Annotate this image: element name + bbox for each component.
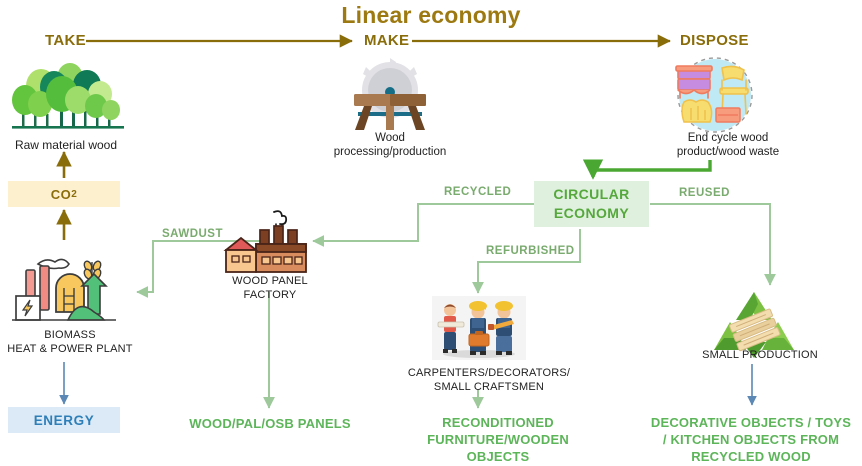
biomass-caption: BIOMASS HEAT & POWER PLANT [0, 328, 140, 356]
raw-material-caption: Raw material wood [0, 138, 132, 152]
wood-waste-furniture-icon [660, 56, 770, 134]
outcome-decorative-line1: DECORATIVE OBJECTS / TOYS [640, 414, 862, 431]
small-production-caption: SMALL PRODUCTION [660, 348, 860, 362]
edge-recycled-to-factory [313, 204, 534, 241]
factory-caption: WOOD PANEL FACTORY [200, 274, 340, 302]
circular-economy-label-line1: CIRCULAR [553, 185, 629, 204]
stage-label-dispose: DISPOSE [680, 32, 749, 49]
outcome-furniture-line1: RECONDITIONED [388, 414, 608, 431]
end-cycle-caption-line1: End cycle wood [630, 131, 826, 145]
end-cycle-caption-line2: product/wood waste [630, 145, 826, 159]
stage-label-make: MAKE [364, 32, 409, 49]
outcome-decorative-objects: DECORATIVE OBJECTS / TOYS / KITCHEN OBJE… [640, 414, 862, 465]
biomass-caption-line1: BIOMASS [0, 328, 140, 342]
outcome-furniture-line3: OBJECTS [388, 448, 608, 465]
edge-label-refurbished: REFURBISHED [486, 245, 575, 257]
edge-reused-to-small-production [650, 204, 770, 285]
wood-processing-caption: Wood processing/production [300, 131, 480, 159]
circular-economy-box[interactable]: CIRCULAR ECONOMY [534, 181, 649, 227]
sawhorse-saw-icon [330, 58, 450, 132]
outcome-decorative-line3: RECYCLED WOOD [640, 448, 862, 465]
circular-economy-label-line2: ECONOMY [554, 204, 629, 223]
edge-refurbished-to-craftsmen [478, 229, 580, 293]
co2-box: CO2 [8, 181, 120, 207]
wood-processing-caption-line2: processing/production [300, 145, 480, 159]
energy-box: ENERGY [8, 407, 120, 433]
biomass-caption-line2: HEAT & POWER PLANT [0, 342, 140, 356]
wood-processing-caption-line1: Wood [300, 131, 480, 145]
craftsmen-workers-icon [432, 296, 526, 360]
outcome-reconditioned-furniture: RECONDITIONED FURNITURE/WOODEN OBJECTS [388, 414, 608, 465]
edge-label-recycled: RECYCLED [444, 186, 511, 198]
arrow-dispose-to-circular-economy [593, 160, 710, 177]
factory-caption-line2: FACTORY [200, 288, 340, 302]
co2-subscript: 2 [71, 189, 77, 200]
outcome-wood-panels: WOOD/PAL/OSB PANELS [130, 415, 410, 432]
stage-label-take: TAKE [45, 32, 86, 49]
co2-label: CO [51, 187, 72, 202]
forest-trees-icon [8, 56, 128, 136]
factory-icon [218, 210, 320, 274]
craftsmen-caption: CARPENTERS/DECORATORS/ SMALL CRAFTSMEN [380, 366, 598, 394]
craftsmen-caption-line2: SMALL CRAFTSMEN [380, 380, 598, 394]
edge-label-sawdust: SAWDUST [162, 228, 223, 240]
page-title: Linear economy [0, 2, 862, 29]
end-cycle-caption: End cycle wood product/wood waste [630, 131, 826, 159]
craftsmen-caption-line1: CARPENTERS/DECORATORS/ [380, 366, 598, 380]
outcome-furniture-line2: FURNITURE/WOODEN [388, 431, 608, 448]
outcome-decorative-line2: / KITCHEN OBJECTS FROM [640, 431, 862, 448]
edge-label-reused: REUSED [679, 187, 730, 199]
biomass-power-plant-icon [12, 252, 116, 328]
factory-caption-line1: WOOD PANEL [200, 274, 340, 288]
